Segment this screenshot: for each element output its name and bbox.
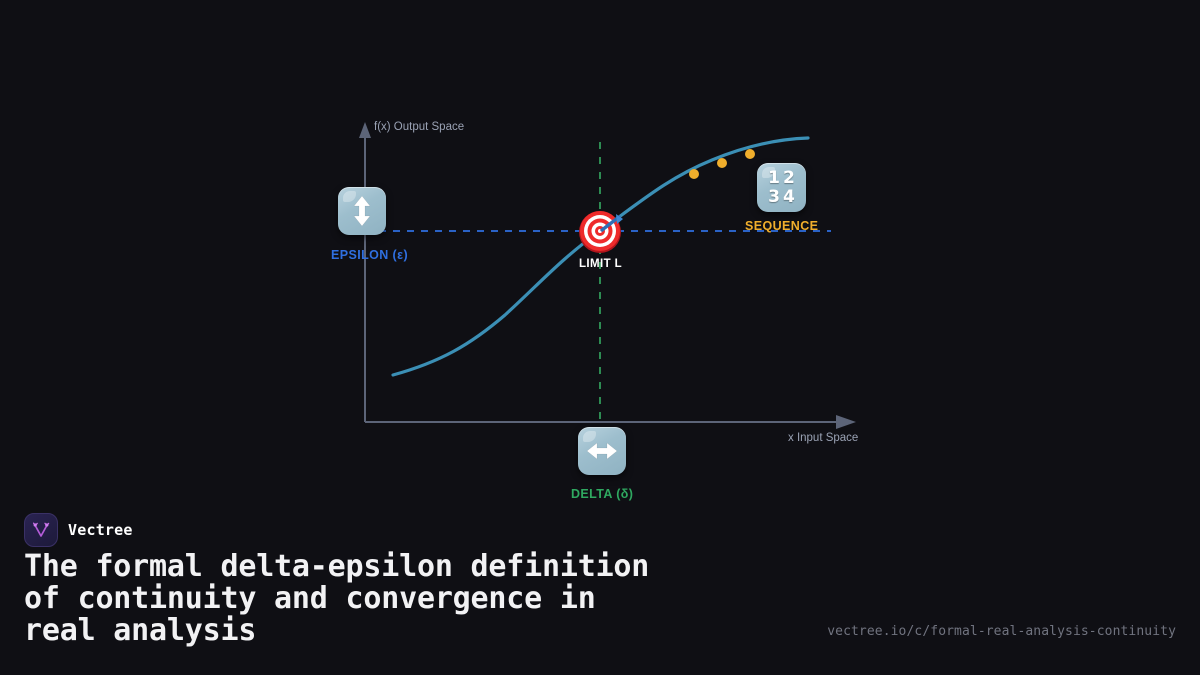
- page-url: vectree.io/c/formal-real-analysis-contin…: [827, 624, 1176, 639]
- x-axis-arrowhead: [836, 415, 856, 429]
- sequence-point: [689, 169, 699, 179]
- caption-footer: Vectree The formal delta-epsilon definit…: [0, 505, 1200, 675]
- sequence-digit: 3: [768, 188, 780, 207]
- y-axis-arrowhead: [359, 122, 371, 138]
- y-axis-label: f(x) Output Space: [374, 121, 464, 133]
- delta-label: DELTA (δ): [571, 487, 633, 501]
- epsilon-label: EPSILON (ε): [331, 248, 408, 262]
- sequence-point: [717, 158, 727, 168]
- arrows-left-right-icon: [578, 427, 626, 475]
- x-axis-label: x Input Space: [788, 432, 858, 444]
- vectree-logo-icon: [24, 513, 58, 547]
- sequence-digit: 2: [783, 169, 795, 188]
- diagram-stage: EPSILON (ε) DELTA (δ) 1 2 3 4 SEQUENCE L…: [0, 0, 1200, 510]
- vectree-logo-glyph: [31, 520, 51, 540]
- brand-row: Vectree: [24, 513, 133, 547]
- sequence-label: SEQUENCE: [745, 219, 818, 233]
- target-dart-icon: [579, 211, 623, 253]
- sequence-digit-grid: 1 2 3 4: [768, 169, 795, 207]
- limit-label: LIMIT L: [579, 258, 622, 270]
- brand-name: Vectree: [68, 521, 133, 539]
- arrows-up-down-glyph: [349, 195, 375, 227]
- sequence-digit: 1: [768, 169, 780, 188]
- input-numbers-icon: 1 2 3 4: [757, 163, 806, 212]
- sequence-digit: 4: [783, 188, 795, 207]
- arrows-up-down-icon: [338, 187, 386, 235]
- sequence-point: [745, 149, 755, 159]
- headline: The formal delta-epsilon definition of c…: [24, 551, 824, 647]
- arrows-left-right-glyph: [586, 438, 618, 464]
